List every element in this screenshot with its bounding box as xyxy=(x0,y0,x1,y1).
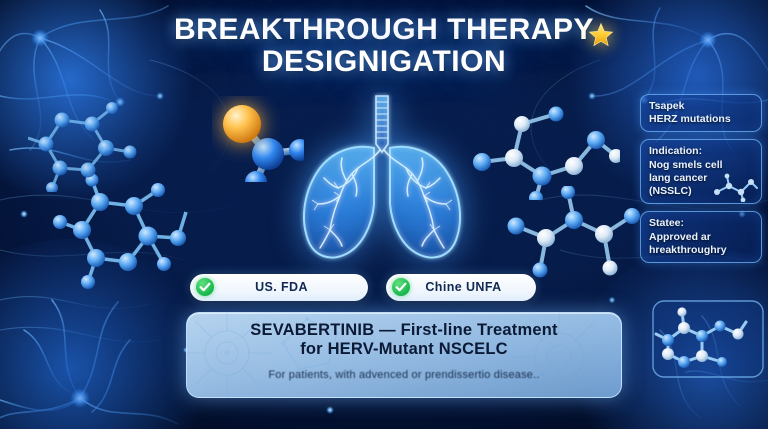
badge-us-fda[interactable]: US. FDA xyxy=(190,274,368,301)
banner-headline-line-1: SEVABERTINIB — First-line Treatment xyxy=(187,321,621,340)
status-line-2: Approved ar xyxy=(649,231,754,244)
chemical-structure-icon-right-upper xyxy=(470,100,620,200)
banner-headline: SEVABERTINIB — First-line Treatment for … xyxy=(187,321,621,360)
status-line-1: Statee: xyxy=(649,217,754,230)
status-line-3: hreakthroughry xyxy=(649,244,754,257)
target-line-1: Tsapek xyxy=(649,100,754,113)
poster-canvas: BREAKTHROUGH THERAPY DESIGNIGATION Tsape… xyxy=(0,0,768,429)
gold-star-icon xyxy=(588,22,614,48)
green-check-icon xyxy=(392,278,410,296)
badge-china-nmpa-label: Chine UNFA xyxy=(419,280,514,294)
info-panel-list: Tsapek HERZ mutations Indication: Nog sm… xyxy=(640,94,762,270)
headline-banner[interactable]: SEVABERTINIB — First-line Treatment for … xyxy=(186,312,622,398)
badge-us-fda-label: US. FDA xyxy=(223,280,346,294)
molecule-icon xyxy=(713,172,759,202)
target-line-2: HERZ mutations xyxy=(649,113,754,126)
info-panel-status[interactable]: Statee: Approved ar hreakthroughry xyxy=(640,211,762,263)
lungs-illustration xyxy=(284,92,480,270)
green-check-icon xyxy=(196,278,214,296)
indication-line-2: Nog smels cell xyxy=(649,159,754,172)
molecular-structure-icon xyxy=(652,300,764,378)
orange-atom-molecule-icon xyxy=(212,96,304,182)
info-panel-target[interactable]: Tsapek HERZ mutations xyxy=(640,94,762,132)
info-panel-indication[interactable]: Indication: Nog smels cell lang cancer (… xyxy=(640,139,762,204)
approval-badge-row: US. FDA Chine UNFA xyxy=(190,272,540,302)
badge-china-nmpa[interactable]: Chine UNFA xyxy=(386,274,536,301)
banner-subtitle: For patients, with advenced or prendisse… xyxy=(187,369,621,381)
indication-line-1: Indication: xyxy=(649,145,754,158)
chemical-structure-icon-right-lower xyxy=(506,186,646,282)
banner-headline-line-2: for HERV-Mutant NSCELC xyxy=(187,340,621,359)
molecule-icon-upper-left xyxy=(28,96,146,192)
